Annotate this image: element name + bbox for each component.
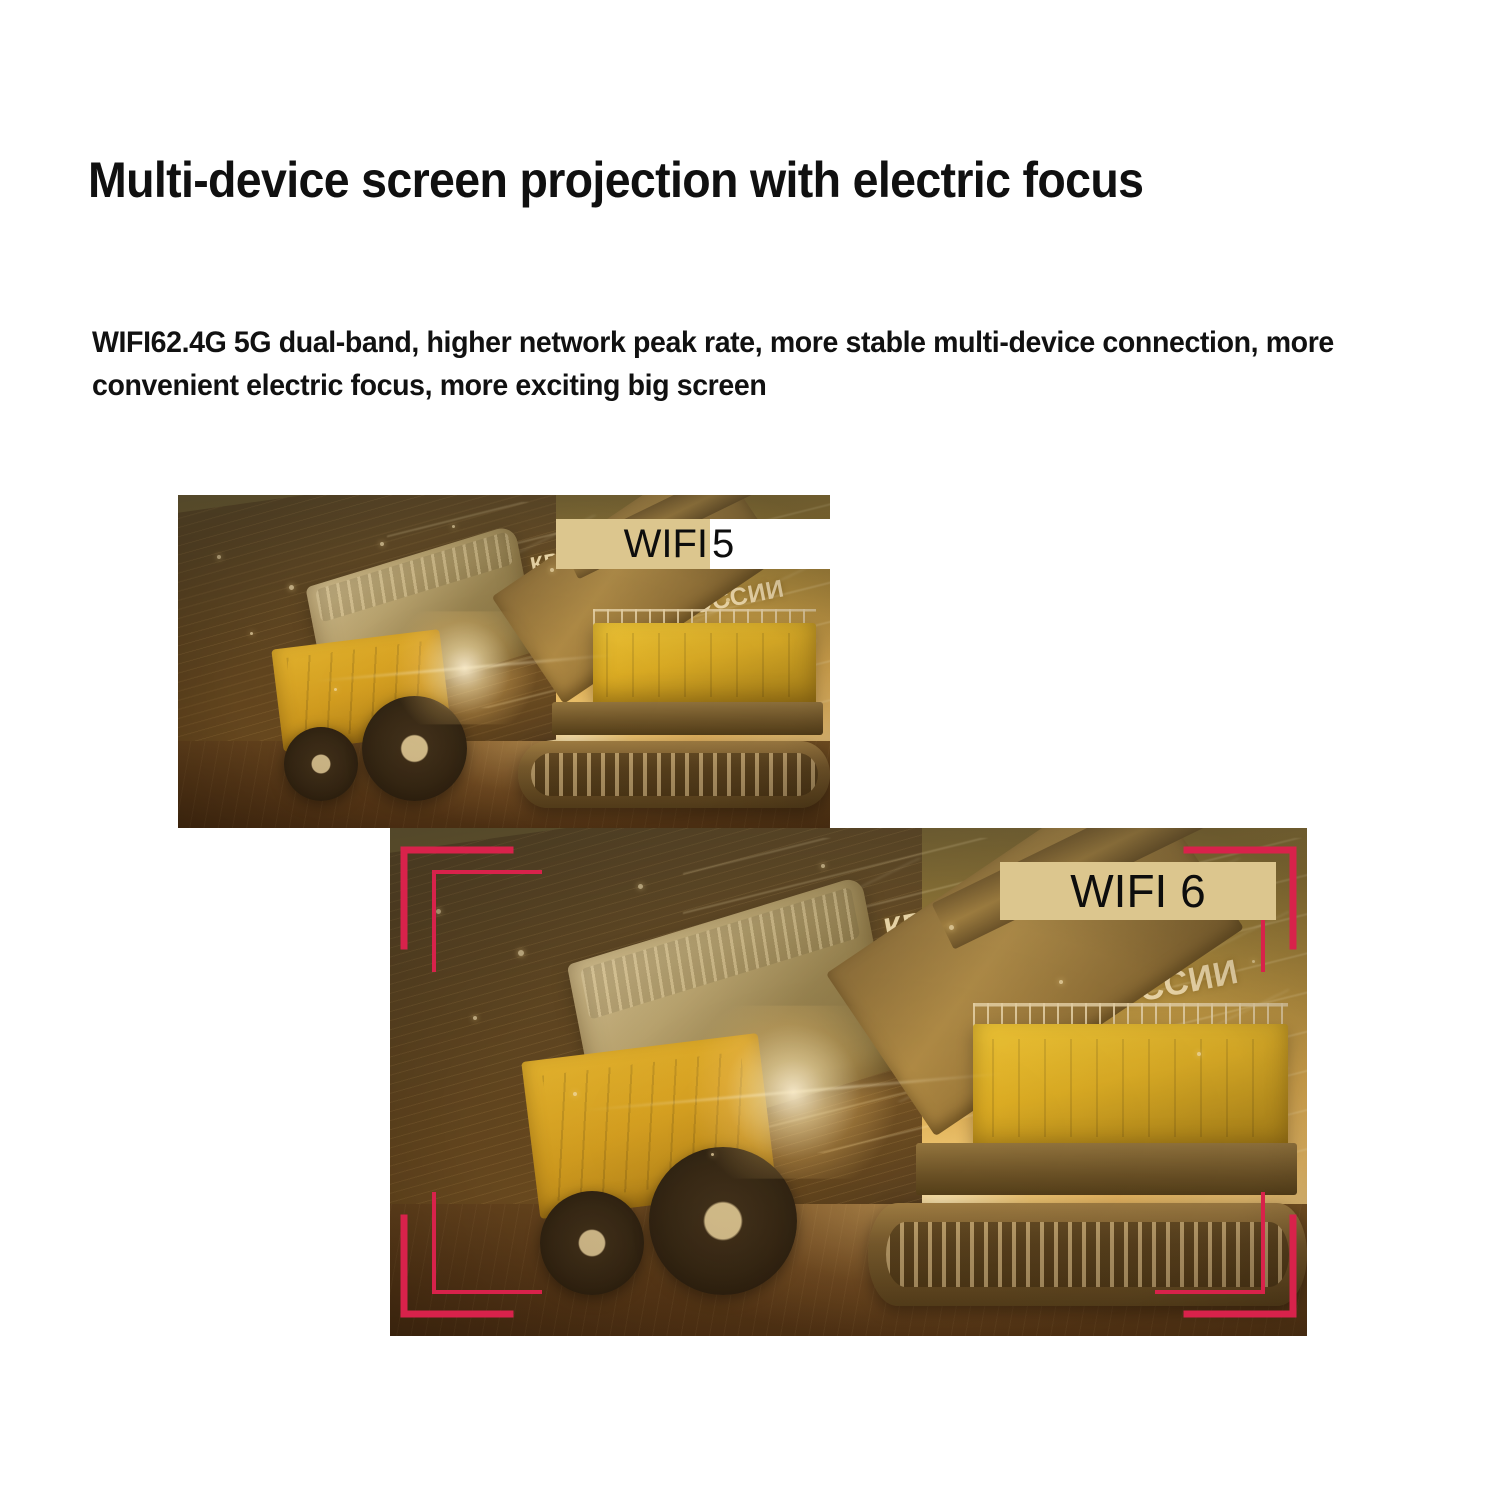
haul-truck-tire-rear — [540, 1191, 644, 1295]
haul-truck-tire-front — [362, 696, 468, 802]
wifi5-label-primary-text: WIFI — [624, 524, 708, 564]
mining-excavator — [491, 528, 830, 808]
haul-truck-tire-front — [649, 1147, 798, 1296]
page-title: Multi-device screen projection with elec… — [88, 150, 1232, 211]
excavator-house — [593, 623, 817, 707]
excavator-base — [552, 702, 823, 736]
excavator-house — [973, 1024, 1288, 1152]
wifi6-label: WIFI 6 — [1000, 862, 1276, 920]
wifi5-label-right-panel: 5 — [710, 519, 850, 569]
excavator-crawler-track — [868, 1203, 1307, 1305]
excavator-base — [916, 1143, 1297, 1194]
mining-excavator — [830, 879, 1307, 1306]
wifi5-label-left-panel: WIFI — [556, 519, 710, 569]
wifi6-label-text: WIFI 6 — [1070, 868, 1205, 914]
haul-truck-tire-rear — [284, 727, 358, 801]
excavator-crawler-track — [518, 741, 830, 808]
wifi5-label: WIFI 5 — [556, 519, 850, 569]
wifi5-label-secondary-text: 5 — [712, 524, 734, 564]
page-subtitle: WIFI62.4G 5G dual-band, higher network p… — [92, 322, 1365, 407]
product-feature-page: Multi-device screen projection with elec… — [0, 0, 1500, 1500]
